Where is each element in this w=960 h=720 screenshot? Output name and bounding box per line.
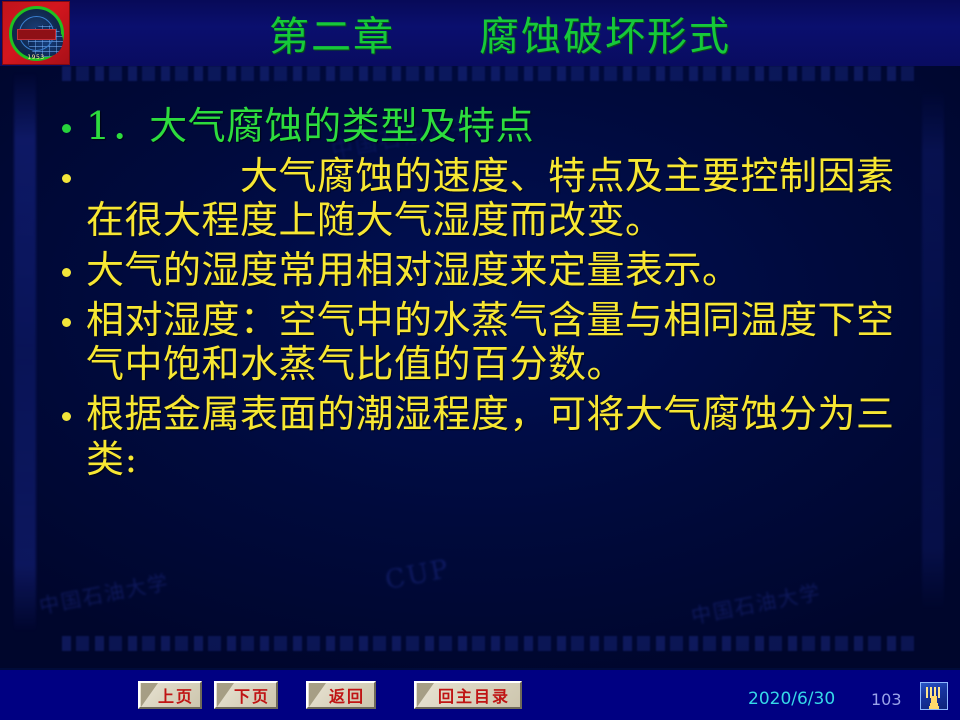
bullet-dot-icon [62, 268, 71, 277]
bullet-text: 相对湿度：空气中的水蒸气含量与相同温度下空气中饱和水蒸气比值的百分数。 [86, 298, 926, 386]
next-page-button[interactable]: 下页 [214, 681, 278, 709]
previous-page-label: 上页 [140, 683, 200, 707]
slide-header: 1953 第二章 腐蚀破坏形式 [0, 0, 960, 66]
back-label: 返回 [308, 683, 374, 707]
footer-page-number: 103 [871, 690, 902, 709]
previous-page-button[interactable]: 上页 [138, 681, 202, 709]
bullet-dot-icon [62, 124, 71, 133]
bullet-dot-icon [62, 174, 71, 183]
bullet-dot-icon [62, 412, 71, 421]
next-page-label: 下页 [216, 683, 276, 707]
background-text-strip-bottom [62, 636, 920, 651]
main-menu-label: 回主目录 [416, 683, 520, 707]
slide-content: 1．大气腐蚀的类型及特点 大气腐蚀的速度、特点及主要控制因素在很大程度上随大气湿… [0, 104, 960, 487]
bullet-item: 1．大气腐蚀的类型及特点 [0, 104, 960, 148]
bullet-dot-icon [62, 318, 71, 327]
back-button[interactable]: 返回 [306, 681, 376, 709]
bullet-item: 相对湿度：空气中的水蒸气含量与相同温度下空气中饱和水蒸气比值的百分数。 [0, 298, 960, 386]
background-text-strip-top [62, 66, 920, 81]
bullet-text: 1．大气腐蚀的类型及特点 [86, 104, 534, 148]
bullet-text: 大气腐蚀的速度、特点及主要控制因素在很大程度上随大气湿度而改变。 [86, 154, 926, 242]
bullet-text: 大气的湿度常用相对湿度来定量表示。 [86, 248, 741, 292]
presentation-slide: 中国石油大学 CUP 中国石油大学 中国石油大学 1953 第二章 腐蚀破坏形式… [0, 0, 960, 720]
bullet-item: 大气腐蚀的速度、特点及主要控制因素在很大程度上随大气湿度而改变。 [0, 154, 960, 242]
footer-date: 2020/6/30 [748, 689, 835, 709]
picture-thumbnail-icon[interactable] [920, 682, 948, 710]
bullet-item: 大气的湿度常用相对湿度来定量表示。 [0, 248, 960, 292]
slide-title: 第二章 腐蚀破坏形式 [0, 4, 960, 62]
bullet-text: 根据金属表面的潮湿程度，可将大气腐蚀分为三类: [86, 392, 926, 480]
main-menu-button[interactable]: 回主目录 [414, 681, 522, 709]
bullet-item: 根据金属表面的潮湿程度，可将大气腐蚀分为三类: [0, 392, 960, 480]
